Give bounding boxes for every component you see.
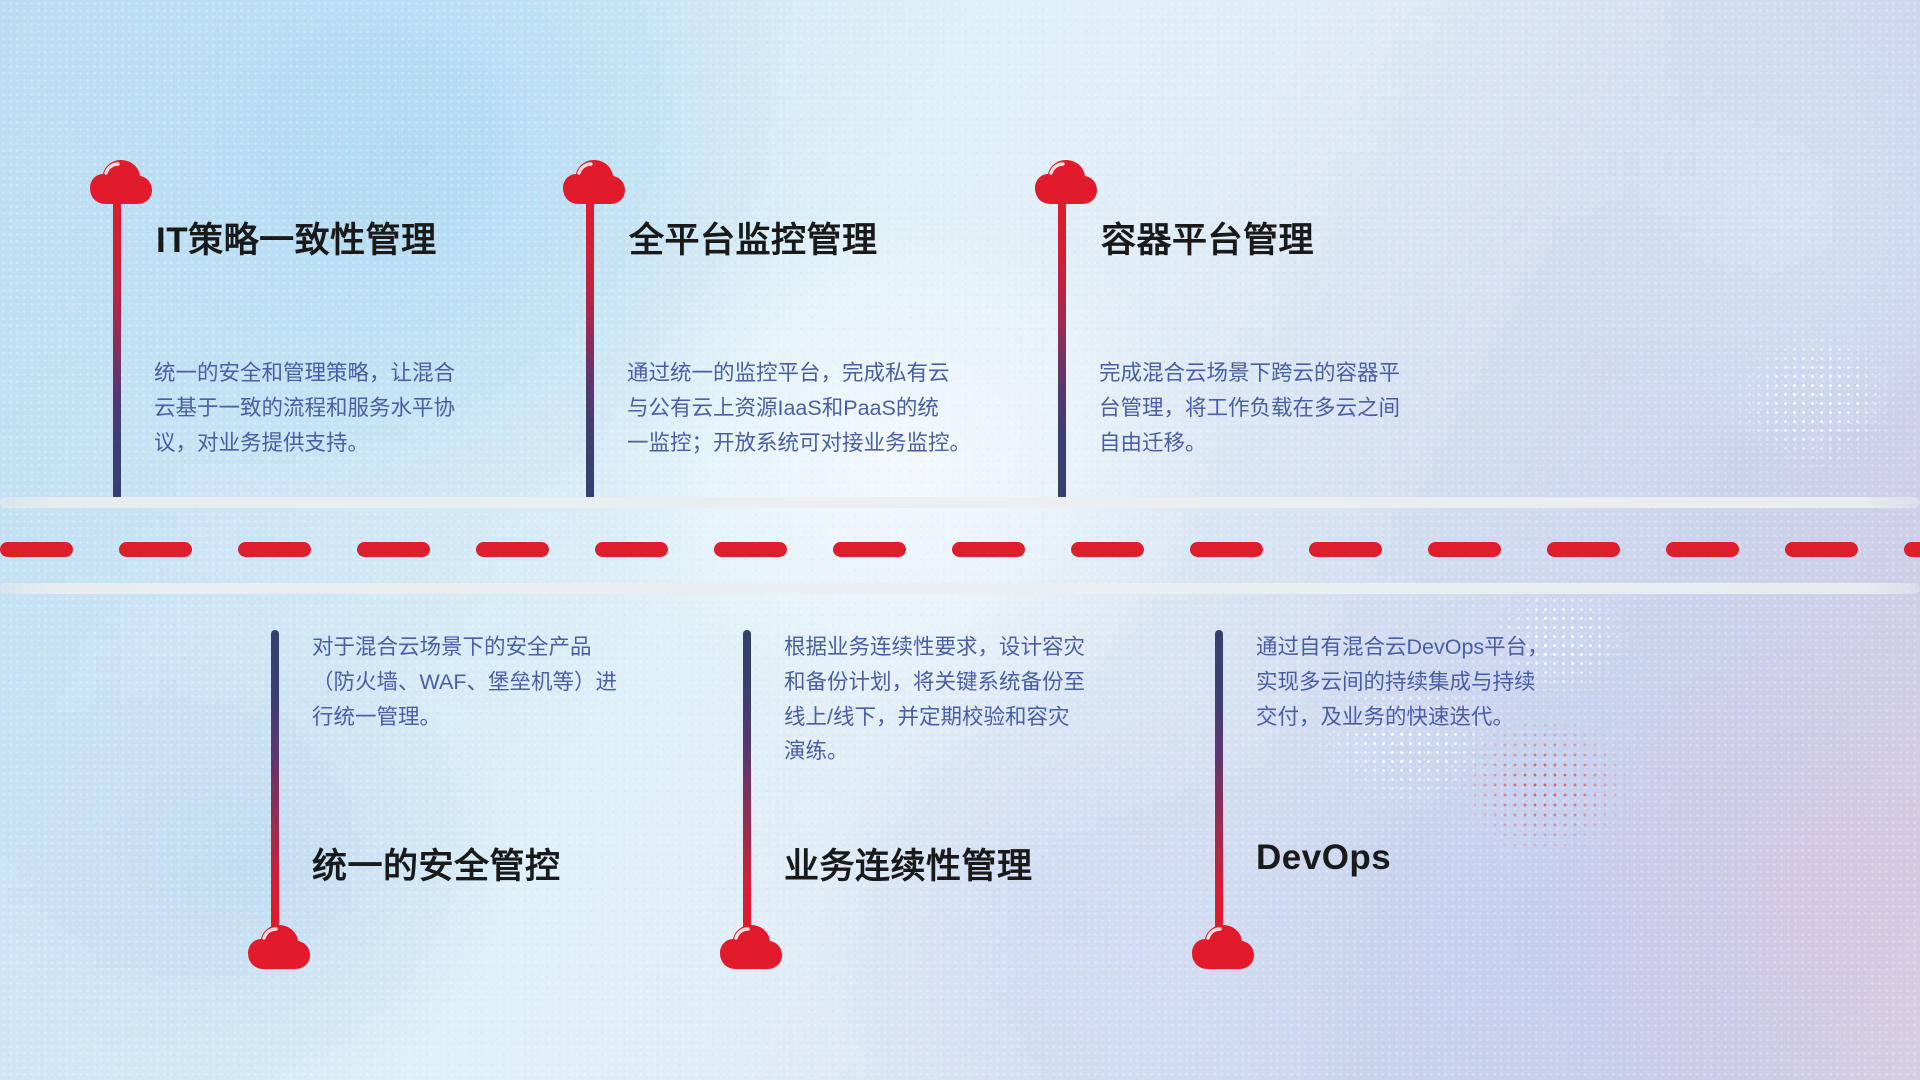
dash-segment (0, 542, 73, 557)
divider-bar-bottom (0, 583, 1920, 594)
dashed-separator (0, 541, 1920, 557)
dash-segment (1904, 542, 1920, 557)
infographic-canvas: IT策略一致性管理 统一的安全和管理策略，让混合 云基于一致的流程和服务水平协 … (0, 0, 1920, 1080)
bottom-body-1: 对于混合云场景下的安全产品 （防火墙、WAF、堡垒机等）进 行统一管理。 (312, 630, 712, 734)
dash-segment (119, 542, 192, 557)
cloud-icon (720, 925, 782, 971)
connector-line (586, 198, 594, 500)
bottom-body-3: 通过自有混合云DevOps平台， 实现多云间的持续集成与持续 交付，及业务的快速… (1256, 630, 1656, 734)
dash-segment (238, 542, 311, 557)
cloud-icon (90, 160, 152, 206)
dash-segment (1428, 542, 1501, 557)
top-body-1: 统一的安全和管理策略，让混合 云基于一致的流程和服务水平协 议，对业务提供支持。 (154, 356, 554, 460)
top-heading-3: 容器平台管理 (1101, 212, 1314, 263)
divider-bar-top (0, 497, 1920, 508)
dash-segment (476, 542, 549, 557)
dash-segment (952, 542, 1025, 557)
top-heading-2: 全平台监控管理 (629, 212, 878, 263)
connector-line (1058, 198, 1066, 500)
bottom-body-2: 根据业务连续性要求，设计容灾 和备份计划，将关键系统备份至 线上/线下，并定期校… (784, 630, 1184, 769)
background-dot-texture (0, 0, 1920, 1080)
cloud-icon (1192, 925, 1254, 971)
cloud-icon (248, 925, 310, 971)
dash-segment (357, 542, 430, 557)
bottom-heading-3: DevOps (1256, 838, 1391, 878)
dash-segment (833, 542, 906, 557)
dash-segment (1071, 542, 1144, 557)
dash-segment (1190, 542, 1263, 557)
dash-segment (1785, 542, 1858, 557)
dash-segment (1309, 542, 1382, 557)
top-heading-1: IT策略一致性管理 (156, 212, 437, 263)
dash-segment (595, 542, 668, 557)
dash-segment (714, 542, 787, 557)
connector-line (271, 630, 279, 938)
connector-line (743, 630, 751, 938)
connector-line (113, 198, 121, 500)
dot-cluster-white-c (1700, 300, 1920, 500)
cloud-icon (1035, 160, 1097, 206)
cloud-icon (563, 160, 625, 206)
top-body-2: 通过统一的监控平台，完成私有云 与公有云上资源IaaS和PaaS的统 一监控；开… (627, 356, 1027, 460)
dash-segment (1547, 542, 1620, 557)
top-body-3: 完成混合云场景下跨云的容器平 台管理，将工作负载在多云之间 自由迁移。 (1099, 356, 1499, 460)
bottom-heading-1: 统一的安全管控 (312, 838, 561, 889)
dash-segment (1666, 542, 1739, 557)
bottom-heading-2: 业务连续性管理 (784, 838, 1033, 889)
connector-line (1215, 630, 1223, 938)
